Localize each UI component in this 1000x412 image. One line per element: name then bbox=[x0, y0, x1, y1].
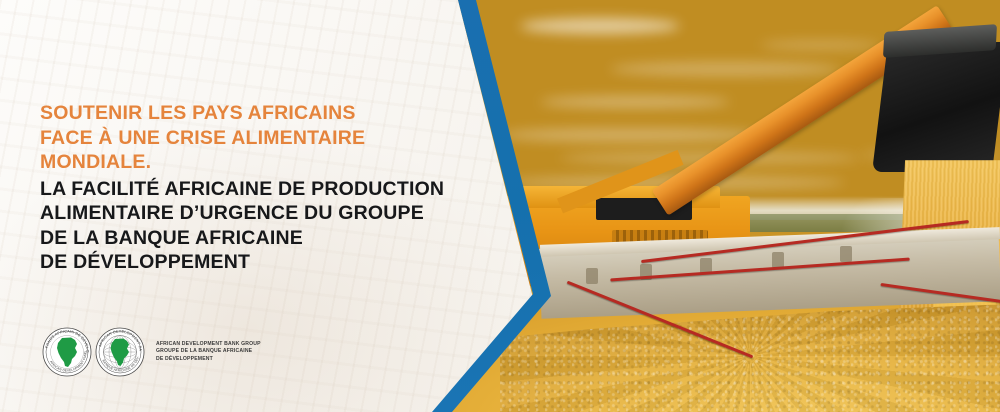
headline-black-line-2: ALIMENTAIRE D’URGENCE DU GROUPE bbox=[40, 201, 510, 226]
headline-black-line-3: DE LA BANQUE AFRICAINE bbox=[40, 226, 510, 251]
cloud-shape bbox=[610, 62, 840, 76]
cloud-shape bbox=[500, 128, 760, 142]
headline-orange-line-1: SOUTENIR LES PAYS AFRICAINS bbox=[40, 101, 510, 126]
cloud-shape bbox=[760, 40, 880, 50]
african-development-fund-seal-icon: FONDS AFRICAIN DE DEVELOPPEMENT AFRICAN … bbox=[42, 327, 92, 377]
auger-spout-head bbox=[872, 42, 1000, 172]
headline-black-block: LA FACILITÉ AFRICAINE DE PRODUCTION ALIM… bbox=[40, 177, 510, 275]
logo-wordmark-line-1: AFRICAN DEVELOPMENT BANK GROUP bbox=[156, 341, 261, 348]
logo-wordmark-line-3: DE DÉVELOPPEMENT bbox=[156, 356, 261, 363]
logo-lockup: FONDS AFRICAIN DE DEVELOPPEMENT AFRICAN … bbox=[42, 327, 261, 377]
logo-wordmark-line-2: GROUPE DE LA BANQUE AFRICAINE bbox=[156, 348, 261, 355]
logo-wordmark: AFRICAN DEVELOPMENT BANK GROUP GROUPE DE… bbox=[156, 341, 261, 363]
headline-orange-line-2: FACE À UNE CRISE ALIMENTAIRE bbox=[40, 126, 510, 151]
cloud-shape bbox=[520, 18, 680, 34]
headline-black-line-1: LA FACILITÉ AFRICAINE DE PRODUCTION bbox=[40, 177, 510, 202]
headline-black-line-4: DE DÉVELOPPEMENT bbox=[40, 250, 510, 275]
headline-orange-line-3: MONDIALE. bbox=[40, 150, 510, 175]
cloud-shape bbox=[540, 96, 730, 108]
campaign-banner: SOUTENIR LES PAYS AFRICAINS FACE À UNE C… bbox=[0, 0, 1000, 412]
headline-block: SOUTENIR LES PAYS AFRICAINS FACE À UNE C… bbox=[40, 101, 510, 275]
trailer-hole bbox=[840, 246, 852, 262]
trailer-hole bbox=[586, 268, 598, 284]
african-development-bank-globe-seal-icon: AFRICAN DEVELOPMENT BANK BANQUE AFRICAIN… bbox=[95, 327, 145, 377]
